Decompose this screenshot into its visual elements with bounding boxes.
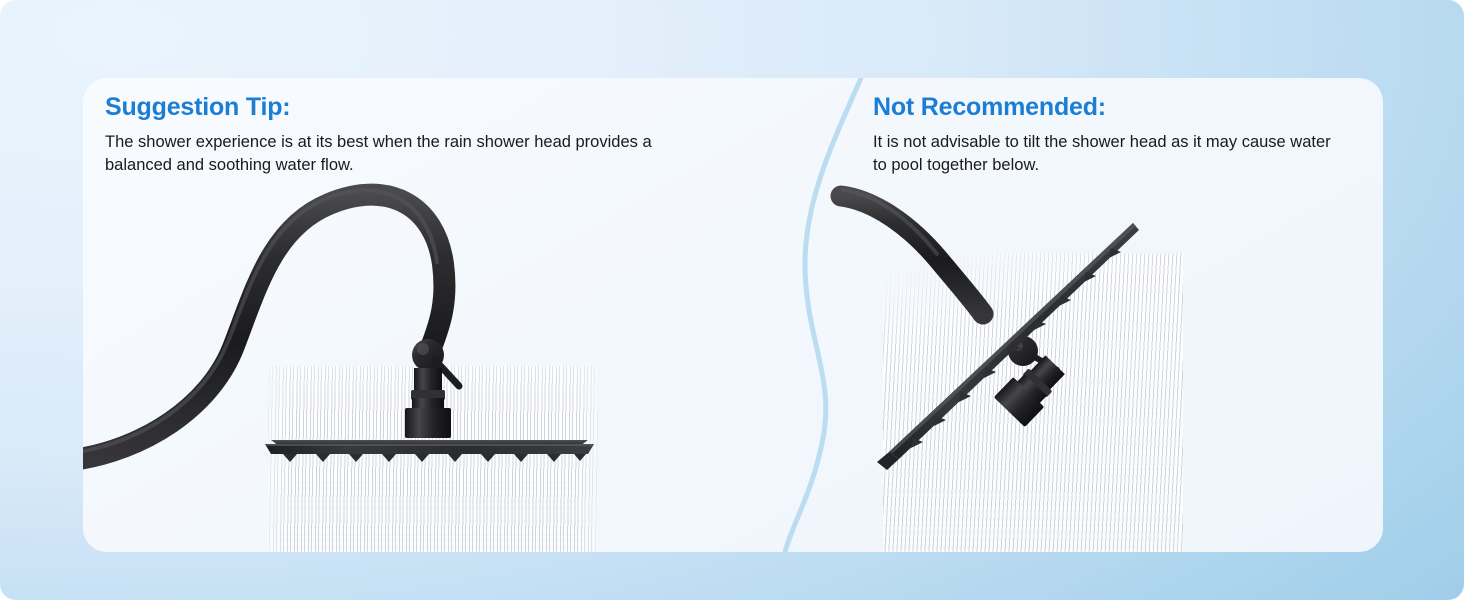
square-shower-head-plate: [877, 223, 1139, 470]
left-panel-heading: Suggestion Tip:: [105, 94, 685, 122]
suggestion-tip-block: Suggestion Tip: The shower experience is…: [105, 94, 685, 177]
right-panel-heading: Not Recommended:: [873, 94, 1343, 122]
promo-panel: Suggestion Tip: The shower experience is…: [0, 0, 1464, 600]
left-panel-body: The shower experience is at its best whe…: [105, 131, 685, 178]
gooseneck-shower-arm: [841, 196, 983, 314]
comparison-card: Suggestion Tip: The shower experience is…: [83, 78, 1383, 552]
right-panel-body: It is not advisable to tilt the shower h…: [873, 131, 1343, 178]
not-recommended-block: Not Recommended: It is not advisable to …: [873, 94, 1343, 177]
